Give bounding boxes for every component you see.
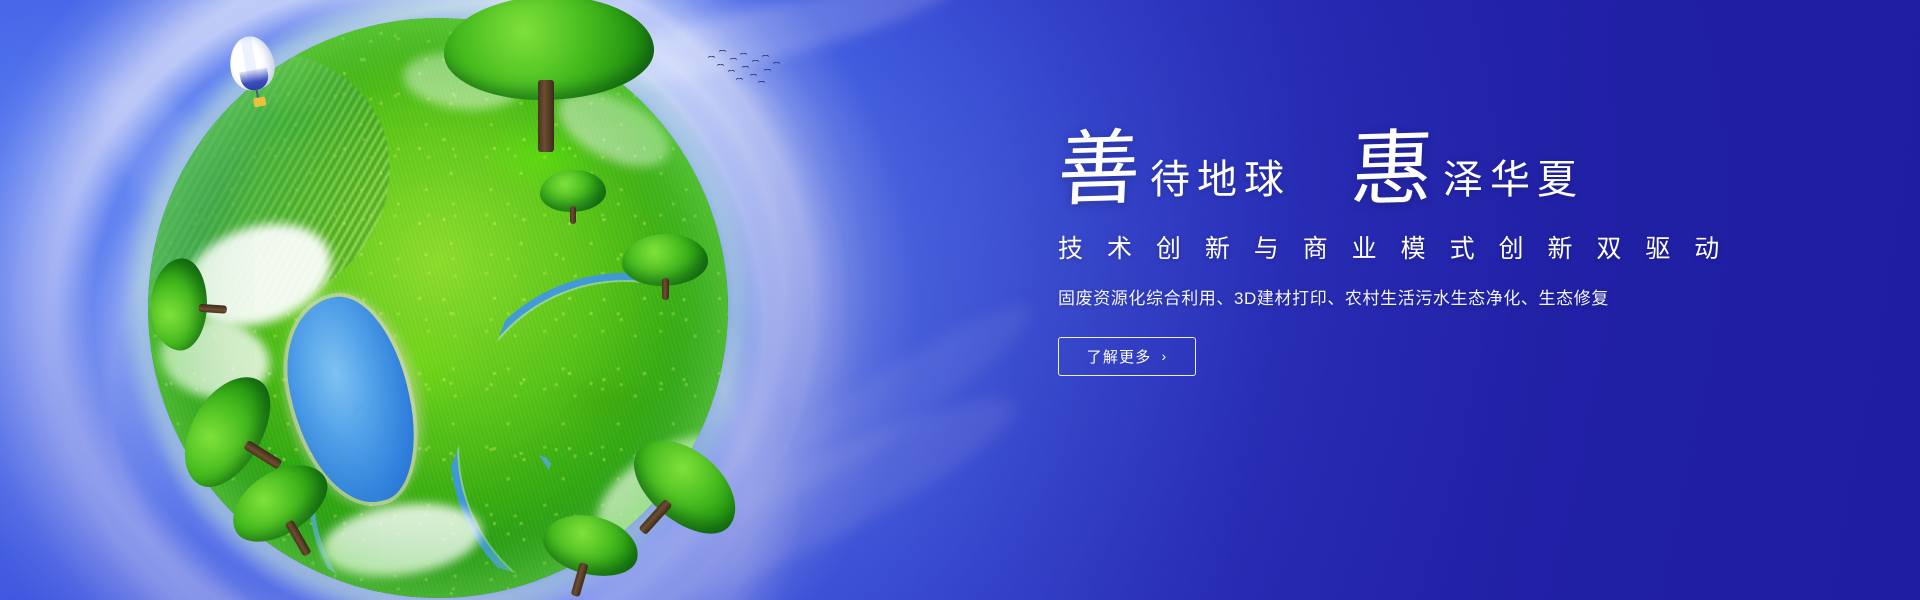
banner-subtitle: 技 术 创 新 与 商 业 模 式 创 新 双 驱 动: [1058, 229, 1758, 265]
tree-trunk: [570, 206, 576, 224]
tree-icon: [444, 0, 654, 136]
hero-banner: 善 待地球 惠 泽华夏 技 术 创 新 与 商 业 模 式 创 新 双 驱 动 …: [0, 0, 1920, 600]
chevron-right-icon: ›: [1161, 349, 1167, 363]
tiny-planet-illustration: [148, 18, 728, 598]
headline-small-text-2: 泽华夏: [1433, 160, 1584, 207]
balloon-basket: [253, 96, 266, 107]
tree-icon: [540, 170, 606, 222]
headline-big-char-1: 善: [1056, 131, 1141, 209]
bird-flock-icon: [706, 50, 782, 90]
page-title: 善 待地球 惠 泽华夏: [1058, 132, 1758, 207]
tree-icon: [622, 234, 708, 298]
banner-description: 固废资源化综合利用、3D建材打印、农村生活污水生态净化、生态修复: [1058, 284, 1758, 309]
learn-more-button[interactable]: 了解更多 ›: [1058, 337, 1196, 376]
tree-trunk: [538, 80, 554, 152]
headline-big-char-2: 惠: [1349, 131, 1434, 209]
banner-copy: 善 待地球 惠 泽华夏 技 术 创 新 与 商 业 模 式 创 新 双 驱 动 …: [1058, 132, 1758, 376]
learn-more-label: 了解更多: [1087, 346, 1152, 367]
tree-icon: [148, 257, 228, 354]
tree-trunk: [662, 278, 669, 300]
headline-small-text-1: 待地球: [1140, 160, 1291, 207]
